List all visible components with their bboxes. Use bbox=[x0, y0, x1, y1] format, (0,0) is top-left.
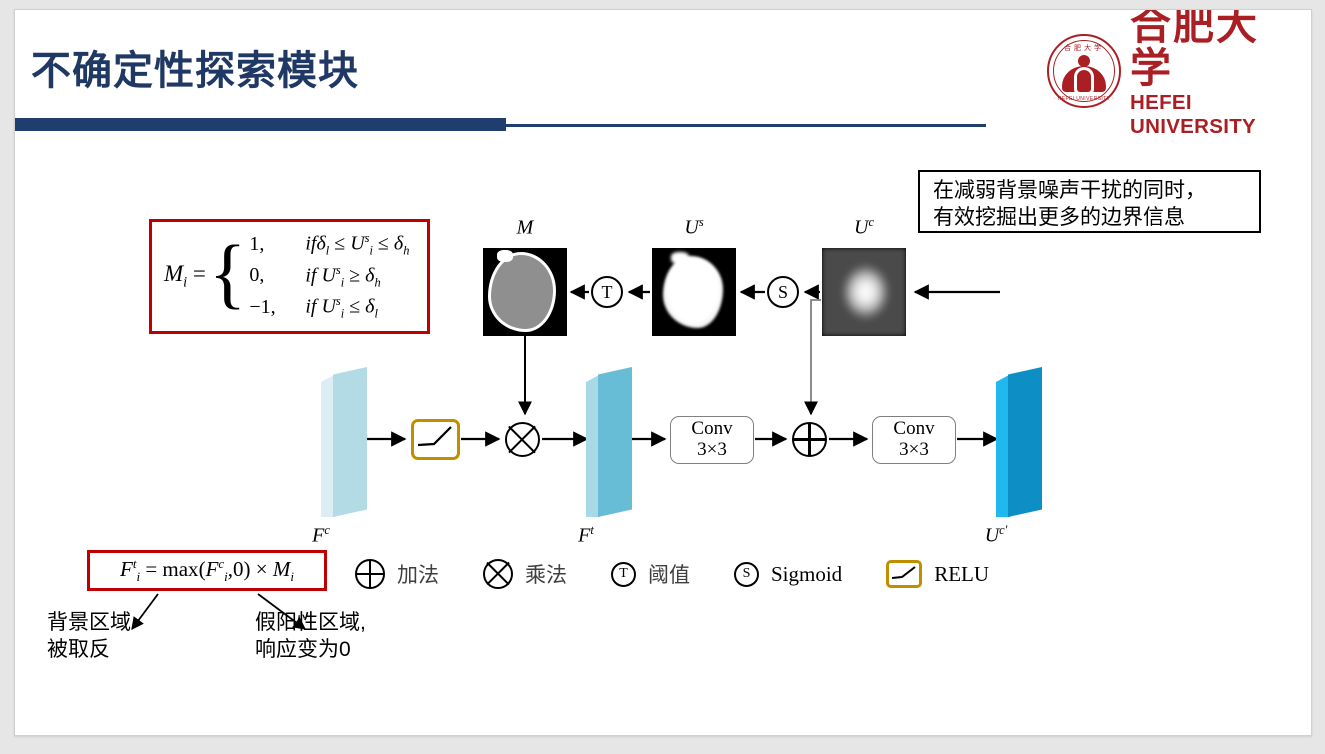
annotation-line-2: 响应变为0 bbox=[255, 637, 366, 664]
sigmoid-operator-icon: S bbox=[767, 276, 799, 308]
thumbnail-saliency-Us: Us bbox=[652, 248, 736, 336]
legend-item-multiply: 乘法 bbox=[483, 559, 567, 589]
legend-label: Sigmoid bbox=[771, 562, 842, 587]
threshold-operator-icon: T bbox=[591, 276, 623, 308]
logo-name-cn: 合肥大学 bbox=[1130, 9, 1297, 90]
legend-item-relu: RELU bbox=[886, 560, 989, 588]
mask-formula-rows: 1, ifδl ≤ Usi ≤ δh 0, if Usi ≥ δh bbox=[249, 231, 409, 322]
thumbnail-image bbox=[652, 248, 736, 336]
threshold-circle-icon: T bbox=[611, 562, 636, 587]
university-logo: 合肥大学 · HEFEI UNIVERSITY · 合肥大学 HEFEI UNI… bbox=[1047, 30, 1297, 112]
legend-item-threshold: T 阈值 bbox=[611, 559, 690, 589]
mask-formula-condition: ifδl ≤ Usi ≤ δh bbox=[305, 231, 409, 259]
mask-formula-lhs: Mi = bbox=[164, 261, 206, 292]
add-operator-icon bbox=[792, 422, 827, 457]
slab-label: Ft bbox=[578, 523, 594, 548]
multiply-operator-icon bbox=[505, 422, 540, 457]
conv-block-2: Conv 3×3 bbox=[872, 416, 956, 464]
mask-formula-row: 1, ifδl ≤ Usi ≤ δh bbox=[249, 231, 409, 259]
feature-formula-box: Fti = max(Fci,0) × Mi bbox=[87, 550, 327, 591]
logo-wordmark: 合肥大学 HEFEI UNIVERSITY bbox=[1130, 9, 1297, 138]
conv-kernel: 3×3 bbox=[899, 440, 929, 461]
page-title: 不确定性探索模块 bbox=[31, 38, 359, 96]
relu-curve-icon bbox=[414, 422, 457, 457]
mask-formula-row: −1, if Usi ≤ δl bbox=[249, 294, 409, 322]
note-box: 在减弱背景噪声干扰的同时， 有效挖掘出更多的边界信息 bbox=[918, 170, 1261, 233]
conv-block-1: Conv 3×3 bbox=[670, 416, 754, 464]
legend-label: 阈值 bbox=[648, 559, 690, 589]
thumbnail-image bbox=[483, 248, 567, 336]
annotation-line-1: 背景区域 bbox=[47, 610, 131, 637]
mask-formula-condition: if Usi ≥ δh bbox=[305, 263, 380, 291]
seal-book-icon bbox=[1062, 66, 1106, 92]
mask-formula-box: Mi = { 1, ifδl ≤ Usi ≤ δh 0, if Usi bbox=[149, 219, 430, 334]
title-rule-thin bbox=[506, 124, 986, 127]
slab-label: Fc bbox=[312, 523, 330, 548]
thumbnail-image bbox=[822, 248, 906, 336]
conv-name: Conv bbox=[893, 419, 934, 440]
slab-label: Uc' bbox=[985, 523, 1008, 548]
legend: 加法 乘法 T 阈值 S Sigmoid R bbox=[355, 559, 989, 589]
thumbnail-label: Uc bbox=[822, 215, 906, 240]
slab-edge bbox=[321, 367, 335, 517]
mask-formula-brace: { bbox=[209, 239, 246, 308]
times-circle-icon bbox=[483, 559, 513, 589]
slab-edge bbox=[996, 367, 1010, 517]
legend-label: 乘法 bbox=[525, 559, 567, 589]
annotation-background-region: 背景区域 被取反 bbox=[47, 610, 131, 664]
sigmoid-circle-icon: S bbox=[734, 562, 759, 587]
legend-label: RELU bbox=[934, 562, 989, 587]
slide-canvas: 不确定性探索模块 合肥大学 · HEFEI UNIVERSITY · 合肥大学 … bbox=[14, 9, 1312, 736]
legend-item-sigmoid: S Sigmoid bbox=[734, 562, 842, 587]
annotation-line-1: 假阳性区域, bbox=[255, 610, 366, 637]
relu-block-icon bbox=[411, 419, 460, 460]
annotation-line-2: 被取反 bbox=[47, 637, 131, 664]
slab-face bbox=[333, 367, 367, 517]
legend-item-add: 加法 bbox=[355, 559, 439, 589]
relu-box-icon bbox=[886, 560, 922, 588]
slab-face bbox=[598, 367, 632, 517]
title-rule-thick bbox=[15, 118, 506, 131]
legend-label: 加法 bbox=[397, 559, 439, 589]
plus-circle-icon bbox=[355, 559, 385, 589]
seal-top-text: 合肥大学 bbox=[1049, 43, 1119, 53]
note-line-2: 有效挖掘出更多的边界信息 bbox=[933, 204, 1246, 231]
feature-formula: Fti = max(Fci,0) × Mi bbox=[120, 556, 294, 585]
annotation-false-positive-region: 假阳性区域, 响应变为0 bbox=[255, 610, 366, 664]
thumbnail-mask-M: M bbox=[483, 248, 567, 336]
thumbnail-uncertainty-Uc: Uc bbox=[822, 248, 906, 336]
slab-face bbox=[1008, 367, 1042, 517]
note-line-1: 在减弱背景噪声干扰的同时， bbox=[933, 177, 1246, 204]
thumbnail-label: Us bbox=[652, 215, 736, 240]
conv-name: Conv bbox=[691, 419, 732, 440]
mask-formula-row: 0, if Usi ≥ δh bbox=[249, 263, 409, 291]
logo-name-en: HEFEI UNIVERSITY bbox=[1130, 91, 1297, 138]
slab-edge bbox=[586, 367, 600, 517]
university-seal-icon: 合肥大学 · HEFEI UNIVERSITY · bbox=[1047, 34, 1121, 108]
mask-formula-condition: if Usi ≤ δl bbox=[305, 294, 378, 322]
seal-bottom-text: · HEFEI UNIVERSITY · bbox=[1049, 96, 1119, 102]
thumbnail-label: M bbox=[483, 215, 567, 240]
conv-kernel: 3×3 bbox=[697, 440, 727, 461]
relu-curve-icon bbox=[889, 563, 919, 585]
